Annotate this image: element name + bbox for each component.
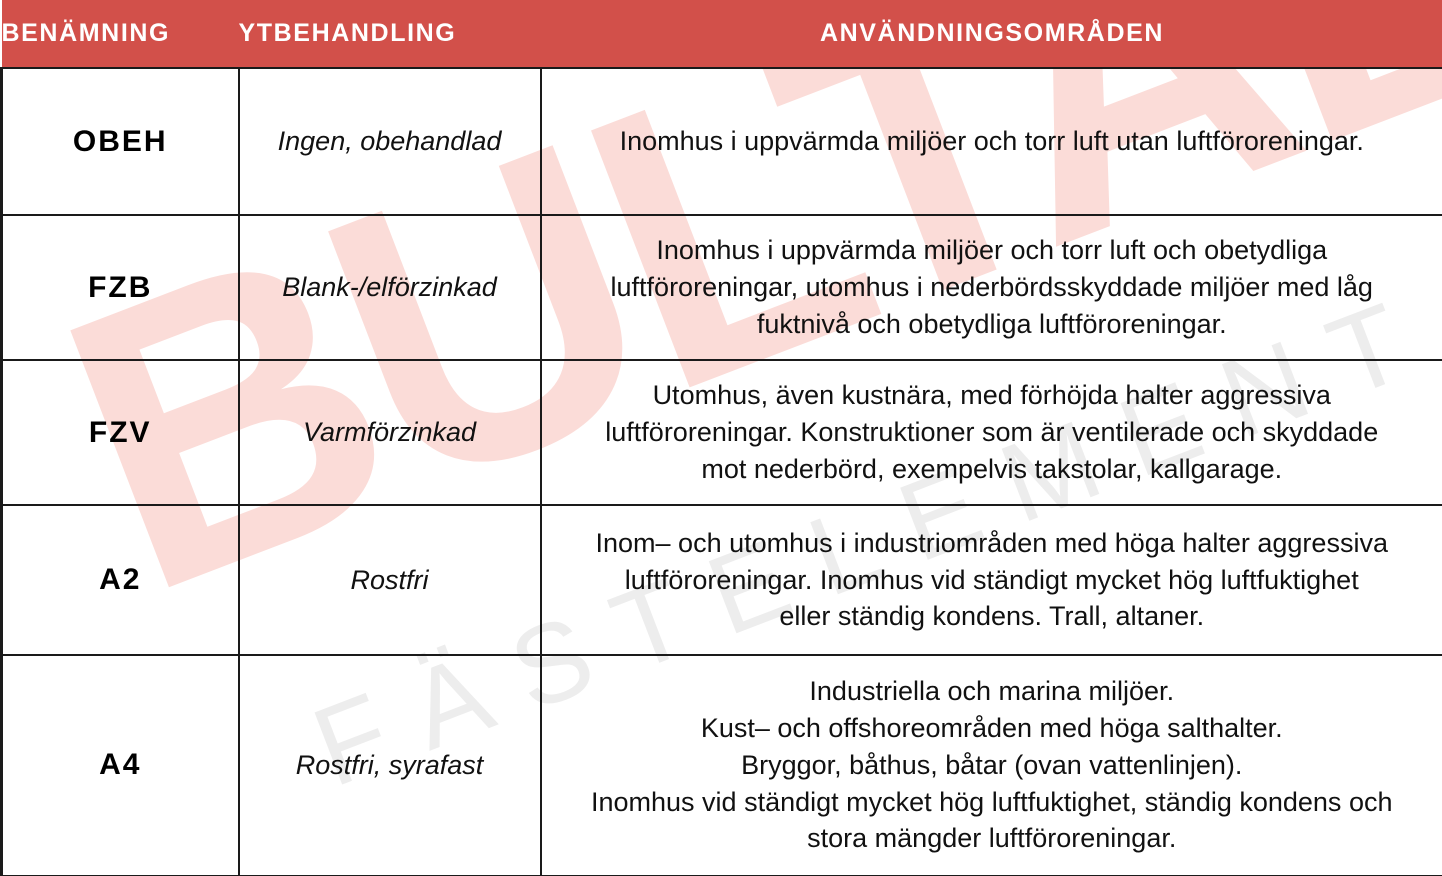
- column-header-anvandning: ANVÄNDNINGSOMRÅDEN: [541, 0, 1442, 68]
- cell-surface-treatment: Ingen, obehandlad: [239, 68, 541, 215]
- usage-line: Inom– och utomhus i industriområden med …: [554, 525, 1431, 562]
- cell-usage-areas: Inomhus i uppvärmda miljöer och torr luf…: [541, 68, 1442, 215]
- cell-code: A4: [2, 655, 239, 876]
- table-row: A4Rostfri, syrafastIndustriella och mari…: [2, 655, 1442, 876]
- usage-line: Inomhus i uppvärmda miljöer och torr luf…: [554, 123, 1431, 160]
- cell-code: FZB: [2, 215, 239, 360]
- table-row: OBEHIngen, obehandladInomhus i uppvärmda…: [2, 68, 1442, 215]
- table-row: A2RostfriInom– och utomhus i industriomr…: [2, 505, 1442, 655]
- cell-code: FZV: [2, 360, 239, 505]
- page-root: BULTAB FÄSTELEMENT BENÄMNING YTBEHANDLIN…: [0, 0, 1442, 876]
- usage-line: mot nederbörd, exempelvis takstolar, kal…: [554, 451, 1431, 488]
- usage-line: stora mängder luftföroreningar.: [554, 820, 1431, 857]
- column-header-benamning: BENÄMNING: [2, 0, 239, 68]
- usage-line: luftföroreningar. Konstruktioner som är …: [554, 414, 1431, 451]
- cell-surface-treatment: Blank-/elförzinkad: [239, 215, 541, 360]
- usage-line: Industriella och marina miljöer.: [554, 673, 1431, 710]
- usage-line: luftföroreningar, utomhus i nederbördssk…: [554, 269, 1431, 306]
- cell-surface-treatment: Rostfri, syrafast: [239, 655, 541, 876]
- usage-line: Inomhus i uppvärmda miljöer och torr luf…: [554, 232, 1431, 269]
- cell-usage-areas: Inomhus i uppvärmda miljöer och torr luf…: [541, 215, 1442, 360]
- cell-usage-areas: Utomhus, även kustnära, med förhöjda hal…: [541, 360, 1442, 505]
- cell-code: A2: [2, 505, 239, 655]
- cell-code: OBEH: [2, 68, 239, 215]
- table-header-row: BENÄMNING YTBEHANDLING ANVÄNDNINGSOMRÅDE…: [2, 0, 1442, 68]
- cell-surface-treatment: Rostfri: [239, 505, 541, 655]
- table-header: BENÄMNING YTBEHANDLING ANVÄNDNINGSOMRÅDE…: [2, 0, 1442, 68]
- column-header-ytbehandling: YTBEHANDLING: [239, 0, 541, 68]
- usage-line: Inomhus vid ständigt mycket hög luftfukt…: [554, 784, 1431, 821]
- surface-treatment-table: BENÄMNING YTBEHANDLING ANVÄNDNINGSOMRÅDE…: [0, 0, 1442, 876]
- cell-usage-areas: Inom– och utomhus i industriområden med …: [541, 505, 1442, 655]
- cell-usage-areas: Industriella och marina miljöer.Kust– oc…: [541, 655, 1442, 876]
- usage-line: eller ständig kondens. Trall, altaner.: [554, 598, 1431, 635]
- cell-surface-treatment: Varmförzinkad: [239, 360, 541, 505]
- table-body: OBEHIngen, obehandladInomhus i uppvärmda…: [2, 68, 1442, 876]
- usage-line: Utomhus, även kustnära, med förhöjda hal…: [554, 377, 1431, 414]
- table-row: FZBBlank-/elförzinkadInomhus i uppvärmda…: [2, 215, 1442, 360]
- usage-line: Bryggor, båthus, båtar (ovan vattenlinje…: [554, 747, 1431, 784]
- table-row: FZVVarmförzinkadUtomhus, även kustnära, …: [2, 360, 1442, 505]
- usage-line: Kust– och offshoreområden med höga salth…: [554, 710, 1431, 747]
- usage-line: fuktnivå och obetydliga luftföroreningar…: [554, 306, 1431, 343]
- usage-line: luftföroreningar. Inomhus vid ständigt m…: [554, 562, 1431, 599]
